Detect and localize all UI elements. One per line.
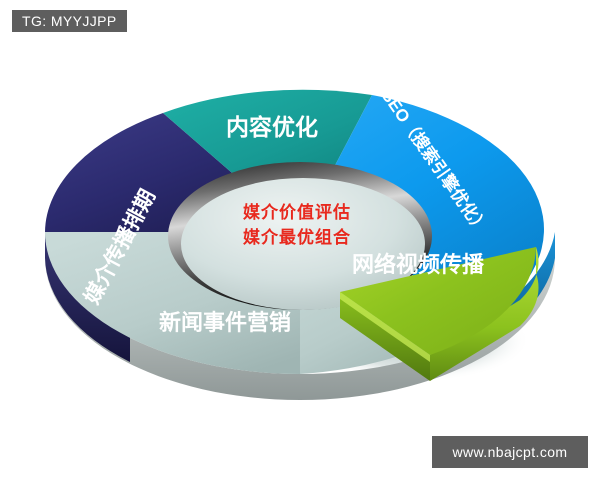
- watermark-bottom-right: www.nbajcpt.com: [432, 436, 588, 468]
- label-content-optimization: 内容优化: [226, 114, 318, 140]
- center-text-line1: 媒介价值评估: [243, 202, 351, 222]
- diagram-canvas: 内容优化 SEO（搜索引擎优化） 媒介传播排期 新闻事件营销 网络视频传播 媒介…: [0, 0, 600, 480]
- donut-chart: 内容优化 SEO（搜索引擎优化） 媒介传播排期 新闻事件营销 网络视频传播 媒介…: [0, 0, 600, 480]
- label-online-video: 网络视频传播: [352, 252, 485, 277]
- watermark-top-left: TG: MYYJJPP: [12, 10, 127, 32]
- center-text-line2: 媒介最优组合: [243, 227, 351, 247]
- label-news-event-marketing: 新闻事件营销: [159, 310, 291, 335]
